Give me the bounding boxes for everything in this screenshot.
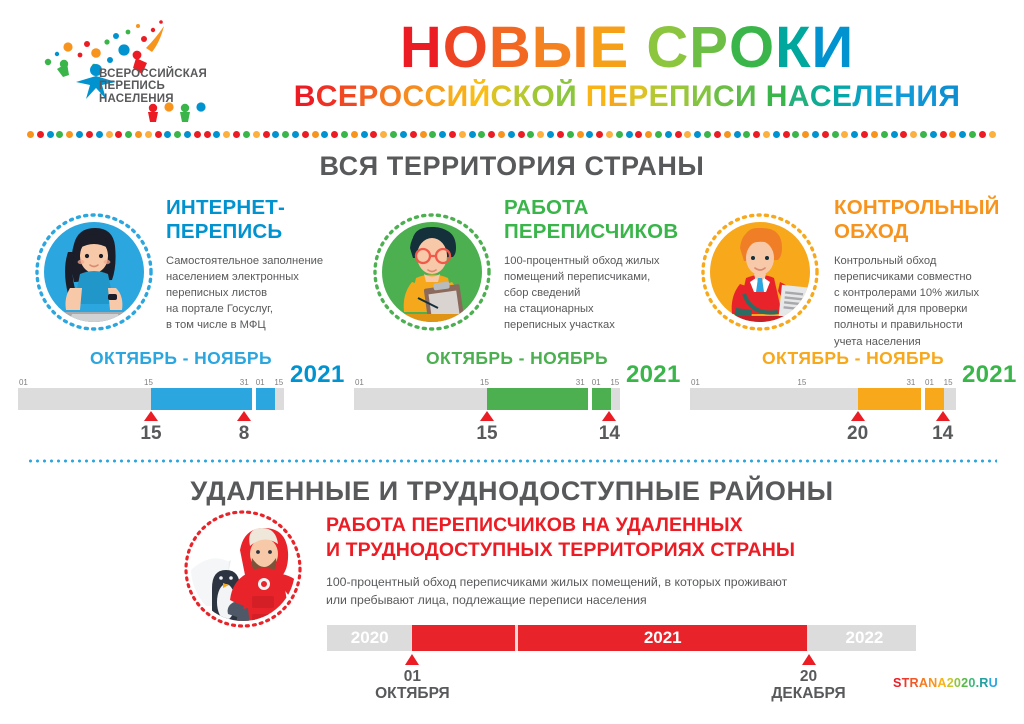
main-subtitle-char: Р <box>628 81 648 113</box>
timeline-tick-label: 01 <box>256 377 265 388</box>
divider-dot <box>213 131 220 138</box>
divider-dot <box>891 131 898 138</box>
divider-dot <box>174 131 181 138</box>
main-subtitle-char: О <box>379 81 403 113</box>
site-url-char: 0 <box>954 676 961 690</box>
man-with-document-icon <box>696 208 824 336</box>
timeline-markers <box>690 411 956 423</box>
divider-dot <box>635 131 642 138</box>
divider-dot <box>204 131 211 138</box>
timeline-tick-label: 01 <box>592 377 601 388</box>
column-body-line: полноты и правильности <box>834 317 1024 333</box>
divider-dot <box>989 131 996 138</box>
remote-timeline-marker-label: 01ОКТЯБРЯ <box>375 668 450 703</box>
column-heading-line: ОБХОД <box>834 220 1024 244</box>
divider-dot <box>841 131 848 138</box>
site-url-char: R <box>910 676 919 690</box>
column-body-line: переписчиками совместно <box>834 269 1024 285</box>
divider-dot <box>871 131 878 138</box>
site-url-char: 0 <box>968 676 975 690</box>
timeline-tick-label: 01 <box>691 377 700 388</box>
divider-dot <box>243 131 250 138</box>
timeline-marker-label: 15 <box>476 423 497 445</box>
timeline-markers <box>18 411 284 423</box>
timeline-month-separator <box>921 388 925 410</box>
column-body-line: с контролерами 10% жилых <box>834 285 1024 301</box>
main-subtitle-char: С <box>425 81 447 113</box>
main-subtitle-char: И <box>916 81 938 113</box>
logo-line-1: ВСЕРОССИЙСКАЯ <box>99 68 207 80</box>
main-subtitle-char <box>757 81 766 113</box>
main-title-char: С <box>646 18 689 77</box>
section-title-remote-areas: УДАЛЕННЫЕ И ТРУДНОДОСТУПНЫЕ РАЙОНЫ <box>0 476 1024 507</box>
column-enumerators-text: РАБОТАПЕРЕПИСЧИКОВ 100-процентный обход … <box>504 196 688 334</box>
divider-dot <box>302 131 309 138</box>
divider-dot <box>76 131 83 138</box>
column-body-line: населением электронных <box>166 269 350 285</box>
timeline-markers <box>354 411 620 423</box>
divider-dot <box>606 131 613 138</box>
timeline-month-separator <box>588 388 592 410</box>
divider-dot <box>56 131 63 138</box>
timeline-tick-label: 01 <box>19 377 28 388</box>
column-heading-line: ИНТЕРНЕТ- <box>166 196 350 220</box>
main-subtitle-char: А <box>788 81 810 113</box>
timeline-control: ОКТЯБРЬ - НОЯБРЬ011531011520142021 <box>686 348 1020 438</box>
polar-explorer-penguin-icon <box>168 510 318 628</box>
divider-dot <box>410 131 417 138</box>
divider-dot <box>478 131 485 138</box>
column-control-text: КОНТРОЛЬНЫЙОБХОД Контрольный обходперепи… <box>834 196 1024 350</box>
timeline-tick-label: 15 <box>610 377 619 388</box>
main-subtitle-char: Е <box>874 81 894 113</box>
divider-dot <box>557 131 564 138</box>
timeline-marker-arrow <box>851 411 865 421</box>
main-subtitle-char: С <box>316 81 338 113</box>
remote-timeline-marker-arrow <box>405 654 419 665</box>
main-subtitle-char: С <box>713 81 735 113</box>
rainbow-dot-divider <box>27 130 997 139</box>
divider-dot <box>655 131 662 138</box>
divider-dot <box>763 131 770 138</box>
divider-dot <box>724 131 731 138</box>
divider-dot <box>851 131 858 138</box>
divider-dot <box>351 131 358 138</box>
column-heading-line: ПЕРЕПИСЧИКОВ <box>504 220 688 244</box>
main-title-char: Р <box>689 18 729 77</box>
site-url-char: T <box>902 676 910 690</box>
divider-dot <box>164 131 171 138</box>
header: ВСЕРОССИЙСКАЯ ПЕРЕПИСЬ НАСЕЛЕНИЯ НОВЫЕ С… <box>0 0 1024 128</box>
divider-dot <box>459 131 466 138</box>
divider-dot <box>518 131 525 138</box>
remote-marker-month: ОКТЯБРЯ <box>375 685 450 702</box>
timeline-marker-label: 20 <box>847 423 868 445</box>
column-body-line: Самостоятельное заполнение <box>166 253 350 269</box>
main-subtitle-char: П <box>669 81 691 113</box>
divider-dot <box>449 131 456 138</box>
divider-dot <box>370 131 377 138</box>
divider-dot <box>27 131 34 138</box>
divider-dot <box>684 131 691 138</box>
main-subtitle-char: Е <box>649 81 669 113</box>
main-subtitle-char: С <box>402 81 424 113</box>
main-subtitle-char: В <box>294 81 316 113</box>
main-subtitle-char: Л <box>852 81 873 113</box>
main-title-char: Н <box>400 18 443 77</box>
remote-timeline-bar: 202020212022 <box>327 625 916 651</box>
divider-dot <box>272 131 279 138</box>
timeline-marker-labels: 1514 <box>354 423 620 445</box>
divider-dot <box>675 131 682 138</box>
site-url-char: R <box>979 676 988 690</box>
main-title-block: НОВЫЕ СРОКИ ВСЕРОССИЙСКОЙ ПЕРЕПИСИ НАСЕЛ… <box>232 18 1022 113</box>
divider-dot <box>469 131 476 138</box>
column-internet-heading: ИНТЕРНЕТ-ПЕРЕПИСЬ <box>166 196 350 244</box>
bottom-heading-line: И ТРУДНОДОСТУПНЫХ ТЕРРИТОРИЯХ СТРАНЫ <box>326 538 946 563</box>
column-body-line: помещений для проверки <box>834 301 1024 317</box>
divider-dot <box>734 131 741 138</box>
divider-dot <box>498 131 505 138</box>
section-title-whole-country: ВСЯ ТЕРРИТОРИЯ СТРАНЫ <box>0 151 1024 182</box>
divider-dot <box>86 131 93 138</box>
timeline-remote-areas: 20202021202201ОКТЯБРЯ20ДЕКАБРЯ <box>0 622 1024 722</box>
main-subtitle-char: С <box>491 81 513 113</box>
column-enumerators-heading: РАБОТАПЕРЕПИСЧИКОВ <box>504 196 688 244</box>
main-title-char <box>629 18 646 77</box>
divider-dot <box>547 131 554 138</box>
divider-dot <box>596 131 603 138</box>
divider-dot <box>783 131 790 138</box>
column-internet-text: ИНТЕРНЕТ-ПЕРЕПИСЬ Самостоятельное заполн… <box>166 196 350 334</box>
column-control-heading: КОНТРОЛЬНЫЙОБХОД <box>834 196 1024 244</box>
census-logo: ВСЕРОССИЙСКАЯ ПЕРЕПИСЬ НАСЕЛЕНИЯ <box>24 14 224 124</box>
column-body-line: помещений переписчиками, <box>504 269 688 285</box>
divider-dot <box>341 131 348 138</box>
remote-timeline-graph: 202020212022 <box>327 625 916 651</box>
site-url[interactable]: STRANA2020.RU <box>893 676 998 690</box>
divider-dot <box>832 131 839 138</box>
timeline-marker-label: 15 <box>140 423 161 445</box>
main-subtitle-char <box>577 81 586 113</box>
divider-dot <box>910 131 917 138</box>
divider-dot <box>665 131 672 138</box>
divider-dot <box>940 131 947 138</box>
main-subtitle-char: П <box>586 81 608 113</box>
divider-dot <box>822 131 829 138</box>
divider-dot <box>331 131 338 138</box>
divider-dot <box>802 131 809 138</box>
site-url-char: A <box>937 676 946 690</box>
remote-marker-day: 01 <box>375 668 450 685</box>
divider-dot <box>420 131 427 138</box>
divider-dot <box>812 131 819 138</box>
timeline-marker-labels: 2014 <box>690 423 956 445</box>
site-url-char: N <box>928 676 937 690</box>
divider-dot <box>282 131 289 138</box>
census-logo-wordmark: ВСЕРОССИЙСКАЯ ПЕРЕПИСЬ НАСЕЛЕНИЯ <box>99 68 207 105</box>
bottom-body: 100-процентный обход переписчиками жилых… <box>326 574 946 610</box>
site-url-char: 2 <box>961 676 968 690</box>
timeline-marker-arrow <box>237 411 251 421</box>
bottom-heading-line: РАБОТА ПЕРЕПИСЧИКОВ НА УДАЛЕННЫХ <box>326 513 946 538</box>
divider-dot <box>145 131 152 138</box>
timeline-marker-arrow <box>936 411 950 421</box>
man-with-clipboard-icon <box>368 208 496 336</box>
main-subtitle-char: Р <box>358 81 378 113</box>
divider-dot <box>361 131 368 138</box>
timeline-marker-label: 14 <box>932 423 953 445</box>
column-body-line: переписных участках <box>504 317 688 333</box>
main-title: НОВЫЕ СРОКИ <box>232 18 1022 77</box>
divider-dot <box>37 131 44 138</box>
divider-dot <box>155 131 162 138</box>
divider-dot <box>96 131 103 138</box>
timeline-tick-label: 15 <box>144 377 153 388</box>
column-body-line: на портале Госуслуг, <box>166 301 350 317</box>
remote-timeline-marker-label: 20ДЕКАБРЯ <box>771 668 845 703</box>
remote-timeline-year-label: 2021 <box>518 625 807 651</box>
divider-dot <box>743 131 750 138</box>
logo-line-2: ПЕРЕПИСЬ <box>99 80 207 92</box>
timeline-marker-arrow <box>144 411 158 421</box>
main-subtitle-char: Е <box>832 81 852 113</box>
main-title-char: И <box>811 18 854 77</box>
main-title-char: О <box>443 18 489 77</box>
timeline-tick-label: 15 <box>944 377 953 388</box>
divider-dot <box>115 131 122 138</box>
divider-dot <box>429 131 436 138</box>
bottom-section: РАБОТА ПЕРЕПИСЧИКОВ НА УДАЛЕННЫХИ ТРУДНО… <box>0 505 1024 635</box>
timeline-marker-label: 8 <box>239 423 250 445</box>
divider-dot <box>66 131 73 138</box>
divider-dot <box>47 131 54 138</box>
divider-dot <box>292 131 299 138</box>
logo-year-2020-icon <box>144 102 214 128</box>
main-subtitle-char: И <box>735 81 757 113</box>
divider-dot <box>508 131 515 138</box>
site-url-char: S <box>893 676 902 690</box>
timeline-tick-labels: 0115310115 <box>690 377 956 388</box>
divider-dot <box>969 131 976 138</box>
divider-dot <box>979 131 986 138</box>
timeline-marker-label: 14 <box>599 423 620 445</box>
timeline-bar <box>18 388 284 410</box>
divider-dot <box>233 131 240 138</box>
timeline-fill <box>487 388 611 410</box>
divider-dot <box>616 131 623 138</box>
divider-dot <box>881 131 888 138</box>
timeline-marker-labels: 158 <box>18 423 284 445</box>
column-control-body: Контрольный обходпереписчиками совместно… <box>834 253 1024 350</box>
remote-timeline-year-label: 2022 <box>813 625 916 651</box>
bottom-body-line: 100-процентный обход переписчиками жилых… <box>326 574 946 592</box>
remote-timeline-fill <box>412 625 515 651</box>
timeline-graph: 01153101152014 <box>690 377 956 423</box>
divider-dot <box>577 131 584 138</box>
timeline-month-separator <box>252 388 256 410</box>
column-body-line: на стационарных <box>504 301 688 317</box>
divider-dot <box>773 131 780 138</box>
timeline-bar <box>354 388 620 410</box>
column-enumerators-body: 100-процентный обход жилыхпомещений пере… <box>504 253 688 334</box>
timeline-tick-label: 31 <box>240 377 249 388</box>
main-subtitle-char: Й <box>469 81 491 113</box>
timeline-graph: 0115310115158 <box>18 377 284 423</box>
main-title-char: Е <box>590 18 630 77</box>
blue-dot-divider <box>27 459 997 463</box>
column-body-line: 100-процентный обход жилых <box>504 253 688 269</box>
divider-dot <box>645 131 652 138</box>
main-subtitle: ВСЕРОССИЙСКОЙ ПЕРЕПИСИ НАСЕЛЕНИЯ <box>232 81 1022 113</box>
divider-dot <box>439 131 446 138</box>
divider-dot <box>263 131 270 138</box>
timeline-marker-arrow <box>480 411 494 421</box>
divider-dot <box>527 131 534 138</box>
column-body-line: Контрольный обход <box>834 253 1024 269</box>
bottom-text-block: РАБОТА ПЕРЕПИСЧИКОВ НА УДАЛЕННЫХИ ТРУДНО… <box>326 513 946 610</box>
column-heading-line: КОНТРОЛЬНЫЙ <box>834 196 1024 220</box>
timeline-tick-labels: 0115310115 <box>18 377 284 388</box>
main-subtitle-char: Н <box>766 81 788 113</box>
divider-dot <box>253 131 260 138</box>
divider-dot <box>626 131 633 138</box>
divider-dot <box>930 131 937 138</box>
timeline-internet: ОКТЯБРЬ - НОЯБРЬ01153101151582021 <box>14 348 348 438</box>
timeline-enumerators: ОКТЯБРЬ - НОЯБРЬ011531011515142021 <box>350 348 684 438</box>
bottom-heading: РАБОТА ПЕРЕПИСЧИКОВ НА УДАЛЕННЫХИ ТРУДНО… <box>326 513 946 563</box>
main-subtitle-char: С <box>810 81 832 113</box>
divider-dot <box>537 131 544 138</box>
main-title-char: В <box>489 18 532 77</box>
divider-dot <box>312 131 319 138</box>
main-subtitle-char: Я <box>938 81 960 113</box>
main-subtitle-char: Е <box>608 81 628 113</box>
timeline-tick-label: 31 <box>576 377 585 388</box>
timeline-fill <box>858 388 944 410</box>
column-internet-body: Самостоятельное заполнениенаселением эле… <box>166 253 350 334</box>
remote-timeline-marker-arrow <box>802 654 816 665</box>
column-heading-line: ПЕРЕПИСЬ <box>166 220 350 244</box>
main-subtitle-char: К <box>513 81 532 113</box>
divider-dot <box>861 131 868 138</box>
divider-dot <box>135 131 142 138</box>
divider-dot <box>900 131 907 138</box>
divider-dot <box>194 131 201 138</box>
divider-dot <box>704 131 711 138</box>
divider-dot <box>184 131 191 138</box>
timeline-tick-label: 31 <box>906 377 915 388</box>
divider-dot <box>753 131 760 138</box>
divider-dot <box>390 131 397 138</box>
timeline-year-label: 2021 <box>626 361 681 389</box>
timeline-fill <box>151 388 275 410</box>
timeline-tick-label: 01 <box>355 377 364 388</box>
timeline-year-label: 2021 <box>290 361 345 389</box>
column-body-line: сбор сведений <box>504 285 688 301</box>
main-subtitle-char: И <box>447 81 469 113</box>
main-subtitle-char: Й <box>555 81 577 113</box>
divider-dot <box>694 131 701 138</box>
timeline-tick-label: 15 <box>797 377 806 388</box>
main-subtitle-char: И <box>691 81 713 113</box>
remote-marker-day: 20 <box>771 668 845 685</box>
remote-marker-month: ДЕКАБРЯ <box>771 685 845 702</box>
timeline-tick-label: 15 <box>274 377 283 388</box>
site-url-char: A <box>919 676 928 690</box>
column-body-line: в том числе в МФЦ <box>166 317 350 333</box>
divider-dot <box>400 131 407 138</box>
timeline-graph: 01153101151514 <box>354 377 620 423</box>
divider-dot <box>714 131 721 138</box>
main-title-char: Ы <box>532 18 590 77</box>
remote-timeline-year-label: 2020 <box>327 625 412 651</box>
timeline-year-label: 2021 <box>962 361 1017 389</box>
timeline-marker-arrow <box>602 411 616 421</box>
timeline-tick-label: 01 <box>925 377 934 388</box>
divider-dot <box>792 131 799 138</box>
main-subtitle-char: Е <box>338 81 358 113</box>
timeline-bar <box>690 388 956 410</box>
timeline-tick-label: 15 <box>480 377 489 388</box>
main-subtitle-char: О <box>531 81 555 113</box>
divider-dot <box>959 131 966 138</box>
woman-at-laptop-icon <box>30 208 158 336</box>
main-title-char: О <box>729 18 775 77</box>
divider-dot <box>106 131 113 138</box>
divider-dot <box>920 131 927 138</box>
divider-dot <box>949 131 956 138</box>
bottom-body-line: или пребывают лица, подлежащие переписи … <box>326 592 946 610</box>
timeline-tick-labels: 0115310115 <box>354 377 620 388</box>
site-url-char: U <box>989 676 998 690</box>
column-heading-line: РАБОТА <box>504 196 688 220</box>
divider-dot <box>321 131 328 138</box>
divider-dot <box>125 131 132 138</box>
infographic-page: ВСЕРОССИЙСКАЯ ПЕРЕПИСЬ НАСЕЛЕНИЯ НОВЫЕ С… <box>0 0 1024 724</box>
column-body-line: переписных листов <box>166 285 350 301</box>
divider-dot <box>586 131 593 138</box>
site-url-char: 2 <box>947 676 954 690</box>
main-subtitle-char: Н <box>894 81 916 113</box>
divider-dot <box>567 131 574 138</box>
divider-dot <box>380 131 387 138</box>
divider-dot <box>223 131 230 138</box>
main-title-char: К <box>775 18 811 77</box>
divider-dot <box>488 131 495 138</box>
